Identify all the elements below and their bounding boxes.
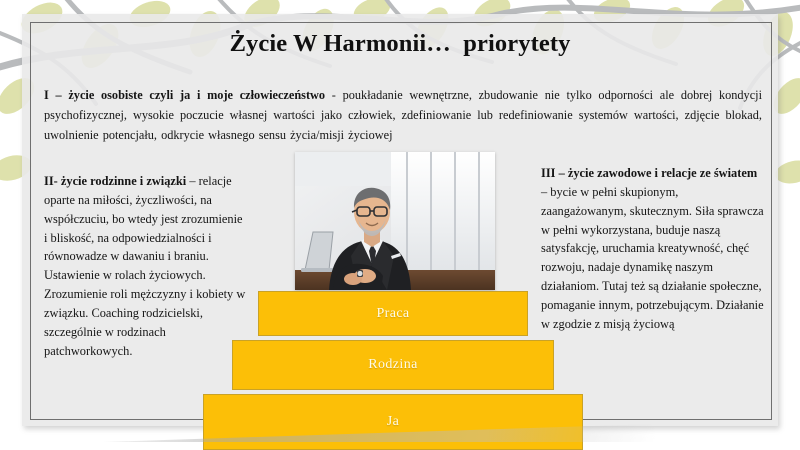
point-two-body: – relacje oparte na miłości, życzliwości… [44, 174, 245, 358]
point-two-paragraph: II- życie rodzinne i związki – relacje o… [44, 172, 249, 360]
pyramid-step-label: Rodzina [368, 357, 417, 373]
pyramid-step-praca[interactable]: Praca [258, 291, 528, 336]
page-title: Życie W Harmonii… priorytety [30, 30, 770, 58]
point-one-paragraph: I – życie osobiste czyli ja i moje człow… [44, 86, 762, 146]
pyramid-step-ja[interactable]: Ja [203, 394, 583, 450]
point-three-body: – bycie w pełni skupionym, zaangażowanym… [541, 185, 764, 331]
point-three-paragraph: III – życie zawodowe i relacje ze świate… [541, 164, 765, 334]
point-two-heading: II- życie rodzinne i związki [44, 174, 186, 188]
pyramid-step-label: Praca [376, 306, 409, 322]
point-three-heading: III – życie zawodowe i relacje ze świate… [541, 166, 757, 180]
point-one-heading: I – życie osobiste czyli ja i moje człow… [44, 88, 325, 102]
pyramid-step-rodzina[interactable]: Rodzina [232, 340, 554, 390]
slide-canvas: Życie W Harmonii… priorytety I – życie o… [0, 0, 800, 450]
businessman-photo [295, 152, 495, 290]
pyramid-step-label: Ja [387, 414, 399, 430]
